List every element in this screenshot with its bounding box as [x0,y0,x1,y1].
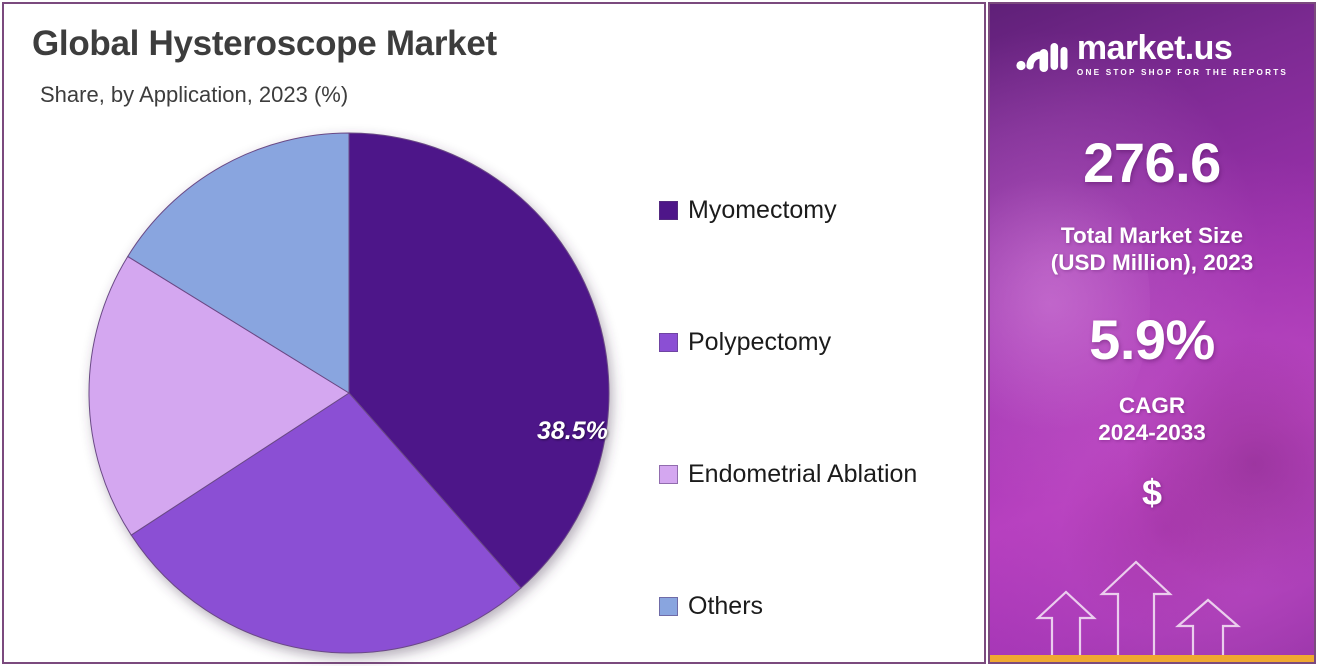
pie-slices-group [89,133,609,653]
legend-item-myomectomy[interactable]: Myomectomy [659,144,969,276]
legend: Myomectomy Polypectomy Endometrial Ablat… [659,144,969,666]
bar-chart-logo-icon [1016,35,1068,75]
pie-slice-data-label-myomectomy: 38.5% [537,417,608,446]
market-size-caption-line2: (USD Million), 2023 [990,249,1314,276]
pie-chart-svg [87,131,611,655]
market-size-caption-line1: Total Market Size [990,222,1314,249]
market-size-caption: Total Market Size (USD Million), 2023 [990,222,1314,277]
market-size-value: 276.6 [990,130,1314,195]
legend-item-endometrial-ablation[interactable]: Endometrial Ablation [659,408,969,540]
legend-item-polypectomy[interactable]: Polypectomy [659,276,969,408]
cagr-value: 5.9% [990,307,1314,372]
accent-bar [990,655,1314,662]
legend-swatch-icon [659,201,678,220]
legend-swatch-icon [659,333,678,352]
logo-wordmark: market.us [1077,32,1232,64]
legend-item-label: Polypectomy [688,328,831,357]
chart-panel: Global Hysteroscope Market Share, by App… [2,2,986,664]
logo-tagline: ONE STOP SHOP FOR THE REPORTS [1077,68,1288,77]
chart-subtitle: Share, by Application, 2023 (%) [40,82,348,108]
page-title: Global Hysteroscope Market [32,24,497,64]
growth-arrows-icon [1026,552,1282,662]
infographic-root: Global Hysteroscope Market Share, by App… [0,0,1318,666]
brand-logo[interactable]: market.us ONE STOP SHOP FOR THE REPORTS [990,32,1314,77]
dollar-icon: $ [990,472,1314,514]
legend-item-label: Endometrial Ablation [688,460,917,489]
cagr-caption-line2: 2024-2033 [990,419,1314,446]
legend-swatch-icon [659,465,678,484]
legend-item-others[interactable]: Others [659,540,969,666]
cagr-caption: CAGR 2024-2033 [990,392,1314,447]
legend-item-label: Myomectomy [688,196,837,225]
stat-panel: market.us ONE STOP SHOP FOR THE REPORTS … [988,2,1316,664]
legend-item-label: Others [688,592,763,621]
pie-chart: 38.5% [87,131,611,655]
legend-swatch-icon [659,597,678,616]
cagr-caption-line1: CAGR [990,392,1314,419]
